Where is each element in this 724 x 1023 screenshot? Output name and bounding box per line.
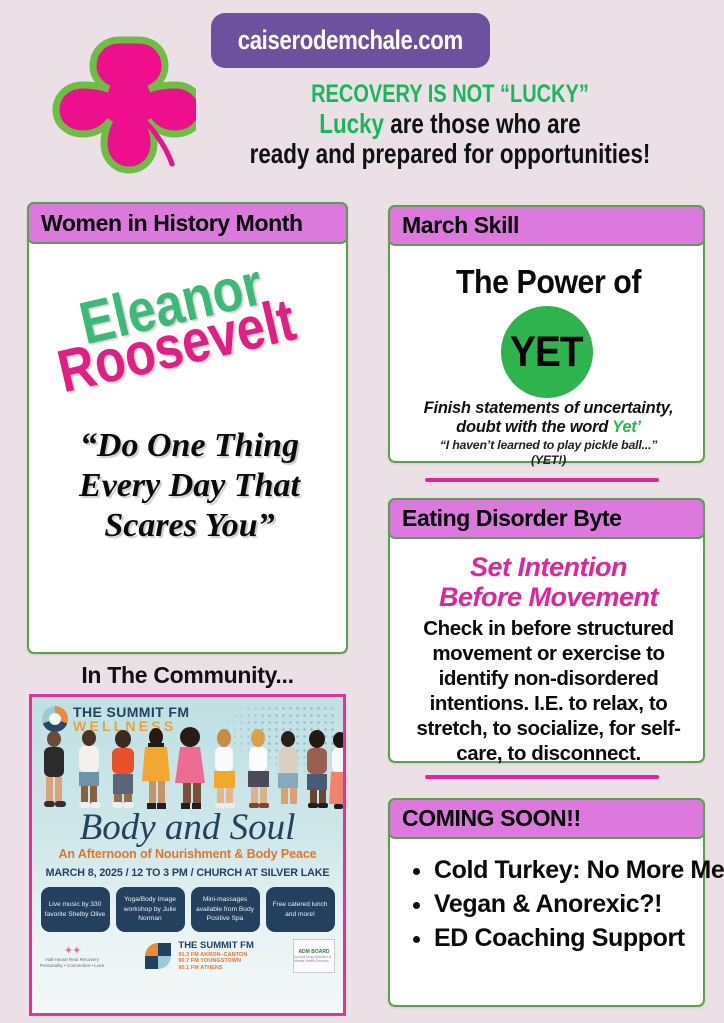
list-item: Vegan & Anorexic?! [434, 888, 724, 922]
eating-disorder-byte-header: Eating Disorder Byte [388, 498, 705, 539]
section-divider [425, 478, 659, 482]
march-skill-panel: March Skill The Power of YET Finish stat… [388, 205, 705, 463]
list-item: Cold Turkey: No More Meds! [434, 854, 724, 888]
march-skill-title: March Skill [402, 212, 519, 239]
byte-heading-line-1: Set Intention [470, 552, 627, 582]
skill-body-line-2: doubt with the word [456, 418, 612, 436]
summit-fm-logo-icon [143, 941, 173, 971]
crowd-illustration [32, 727, 346, 819]
yet-badge: YET [501, 306, 593, 398]
tagline-line-2-rest: are those who are [384, 108, 581, 139]
sponsor-summit-name: THE SUMMIT FM [178, 941, 253, 952]
eleanor-quote: “Do One Thing Every Day That Scares You” [43, 426, 336, 546]
in-the-community-label: In The Community... [27, 662, 348, 689]
coming-soon-title: COMING SOON!! [402, 805, 581, 832]
skill-body-highlight: Yet’ [612, 418, 641, 436]
sponsor-adm-board: ADM BOARD Alcohol Drug Addiction & Menta… [293, 939, 335, 973]
section-divider [425, 775, 659, 779]
tagline: RECOVERY IS NOT “LUCKY” Lucky are those … [190, 82, 710, 169]
women-in-history-title: Women in History Month [41, 210, 303, 237]
eating-disorder-byte-panel: Eating Disorder Byte Set Intention Befor… [388, 498, 705, 763]
body-and-soul-flyer[interactable]: THE SUMMIT FM WELLNESS [29, 694, 346, 1016]
byte-heading: Set Intention Before Movement [398, 552, 699, 612]
women-in-history-header: Women in History Month [27, 202, 348, 244]
byte-heading-line-2: Before Movement [439, 582, 658, 612]
sponsor-hall-house-tagline: Personality • Connection • Love [40, 963, 104, 969]
skill-example-line-1: “I haven’t learned to play pickle ball..… [440, 438, 657, 452]
flyer-sponsor-row: ✦✦ Hall House Real Recovery Personality … [32, 939, 343, 973]
website-url-text: caiserodemchale.com [238, 25, 463, 56]
tagline-highlight: Lucky [319, 108, 384, 139]
flyer-chip: Mini-massages available from Body Positi… [191, 887, 260, 932]
sponsor-hall-house-name: Hall House Real Recovery [40, 957, 104, 963]
list-item: ED Coaching Support [434, 922, 724, 956]
website-badge[interactable]: caiserodemchale.com [211, 13, 490, 68]
eating-disorder-byte-title: Eating Disorder Byte [402, 505, 622, 532]
byte-body: Check in before structured movement or e… [399, 616, 698, 766]
sponsor-hall-house: ✦✦ Hall House Real Recovery Personality … [40, 944, 104, 969]
flyer-details: MARCH 8, 2025 / 12 TO 3 PM / CHURCH AT S… [32, 867, 343, 879]
clover-icon [44, 18, 196, 178]
header: caiserodemchale.com RECOVERY IS NOT “LUC… [0, 0, 724, 186]
tagline-line-3: ready and prepared for opportunities! [242, 140, 658, 169]
skill-example-line-2: (YET!) [531, 453, 566, 467]
skill-body: Finish statements of uncertainty, doubt … [398, 399, 699, 438]
people-icon: ✦✦ [40, 944, 104, 957]
skill-body-line-1: Finish statements of uncertainty, [424, 399, 674, 417]
women-in-history-panel: Women in History Month Eleanor Roosevelt… [27, 202, 348, 654]
newsletter-page: caiserodemchale.com RECOVERY IS NOT “LUC… [0, 0, 724, 1023]
sponsor-adm-tagline: Alcohol Drug Addiction & Mental Health S… [294, 955, 334, 963]
skill-example: “I haven’t learned to play pickle ball..… [398, 438, 699, 468]
tagline-line-1: RECOVERY IS NOT “LUCKY” [242, 82, 658, 108]
flyer-brand-line-1: THE SUMMIT FM [73, 705, 189, 719]
flyer-feature-chips: Live music by 330 favorite Shelby Olive … [32, 887, 343, 932]
coming-soon-panel: COMING SOON!! Cold Turkey: No More Meds!… [388, 798, 705, 1007]
flyer-chip: Live music by 330 favorite Shelby Olive [41, 887, 110, 932]
march-skill-header: March Skill [388, 205, 705, 246]
coming-soon-header: COMING SOON!! [388, 798, 705, 839]
skill-heading: The Power of [403, 263, 695, 301]
coming-soon-list: Cold Turkey: No More Meds! Vegan & Anore… [402, 854, 724, 955]
flyer-subtitle: An Afternoon of Nourishment & Body Peace [32, 847, 343, 861]
sponsor-summit-freqs: 91.3 FM AKRON–CANTON 90.7 FM YOUNGSTOWN … [178, 952, 253, 971]
yet-badge-text: YET [510, 328, 583, 377]
sponsor-summit-fm: THE SUMMIT FM 91.3 FM AKRON–CANTON 90.7 … [143, 941, 253, 971]
tagline-line-2: Lucky are those who are [242, 110, 658, 139]
flyer-chip: Free catered lunch and more! [266, 887, 335, 932]
flyer-chip: Yoga/Body Image workshop by Julie Norman [116, 887, 185, 932]
flyer-hero: THE SUMMIT FM WELLNESS [32, 697, 343, 815]
eleanor-roosevelt-wordmark: Eleanor Roosevelt [29, 266, 350, 416]
